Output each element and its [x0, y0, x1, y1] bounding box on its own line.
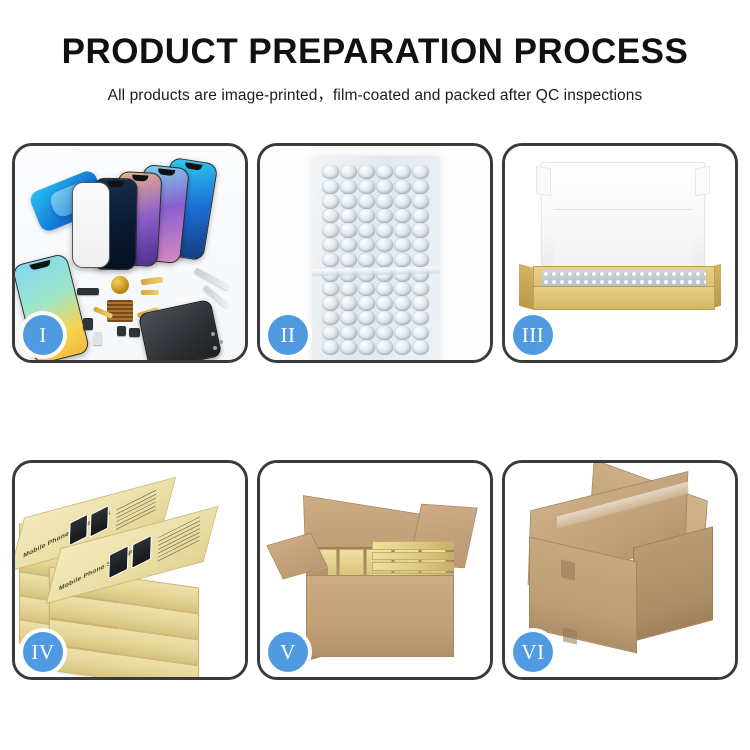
bubble [358, 253, 375, 267]
bubble [358, 340, 375, 354]
step-badge-2: II [268, 315, 308, 355]
page-header: PRODUCT PREPARATION PROCESS All products… [0, 0, 750, 105]
step-badge-5: V [268, 632, 308, 672]
bubble [322, 209, 339, 223]
bubble [394, 296, 411, 310]
bubble [358, 209, 375, 223]
bubble [394, 311, 411, 325]
bubble [376, 223, 393, 237]
bubble [376, 238, 393, 252]
bubble [394, 238, 411, 252]
bubble [322, 180, 339, 194]
step-badge-6: VI [513, 632, 553, 672]
bubble [322, 311, 339, 325]
bubble [376, 326, 393, 340]
bubble [412, 209, 429, 223]
bubble [412, 194, 429, 208]
bubble [376, 165, 393, 179]
bubble [358, 326, 375, 340]
bubble-grid [322, 165, 430, 355]
bubble [412, 326, 429, 340]
bubble [394, 165, 411, 179]
bubble [394, 326, 411, 340]
bubble [340, 282, 357, 296]
bubble [376, 296, 393, 310]
process-step-panel-4[interactable]: Mobile Phone Spare Parts Mobile Phone Sp… [12, 460, 248, 680]
bubble [412, 311, 429, 325]
bubble [412, 282, 429, 296]
bubble [340, 238, 357, 252]
process-step-panel-1[interactable]: I [12, 143, 248, 363]
bubble [340, 194, 357, 208]
bubble [412, 296, 429, 310]
bubble [394, 282, 411, 296]
bubble [412, 253, 429, 267]
bubble [358, 194, 375, 208]
bubble [340, 209, 357, 223]
bubble [358, 223, 375, 237]
bubble [322, 340, 339, 354]
bubble [412, 238, 429, 252]
bubble [322, 194, 339, 208]
bubble [358, 311, 375, 325]
step-badge-1: I [23, 315, 63, 355]
process-step-panel-3[interactable]: III [502, 143, 738, 363]
bubble [322, 253, 339, 267]
bubble [412, 165, 429, 179]
bubble [394, 340, 411, 354]
bubble [376, 282, 393, 296]
bubble [412, 340, 429, 354]
bubble [340, 180, 357, 194]
bubble [394, 223, 411, 237]
step-badge-4: IV [23, 632, 63, 672]
bubble [358, 180, 375, 194]
bubble [322, 223, 339, 237]
bubble [340, 311, 357, 325]
bubble [376, 253, 393, 267]
page-subtitle: All products are image-printed，film-coat… [0, 83, 750, 105]
process-step-grid: I II III [12, 143, 738, 680]
bubble [358, 238, 375, 252]
bubble [322, 165, 339, 179]
bubble [340, 253, 357, 267]
bubble [340, 326, 357, 340]
process-step-panel-5[interactable]: V [257, 460, 493, 680]
bubble [340, 223, 357, 237]
bubble [322, 282, 339, 296]
bubble [394, 253, 411, 267]
bubble [376, 194, 393, 208]
bubble [340, 165, 357, 179]
bubble [358, 165, 375, 179]
bubble [412, 223, 429, 237]
bubble [376, 340, 393, 354]
bubble [394, 209, 411, 223]
bubble [412, 180, 429, 194]
page-title: PRODUCT PREPARATION PROCESS [0, 34, 750, 71]
bubble [376, 311, 393, 325]
bubble [322, 296, 339, 310]
process-step-panel-2[interactable]: II [257, 143, 493, 363]
bubble [394, 180, 411, 194]
bubble [322, 238, 339, 252]
bubble [376, 209, 393, 223]
bubble [376, 180, 393, 194]
bubble [340, 296, 357, 310]
bubble [322, 326, 339, 340]
bubble [358, 282, 375, 296]
bubble [358, 296, 375, 310]
bubble [394, 194, 411, 208]
bubble [340, 340, 357, 354]
process-step-panel-6[interactable]: VI [502, 460, 738, 680]
step-badge-3: III [513, 315, 553, 355]
